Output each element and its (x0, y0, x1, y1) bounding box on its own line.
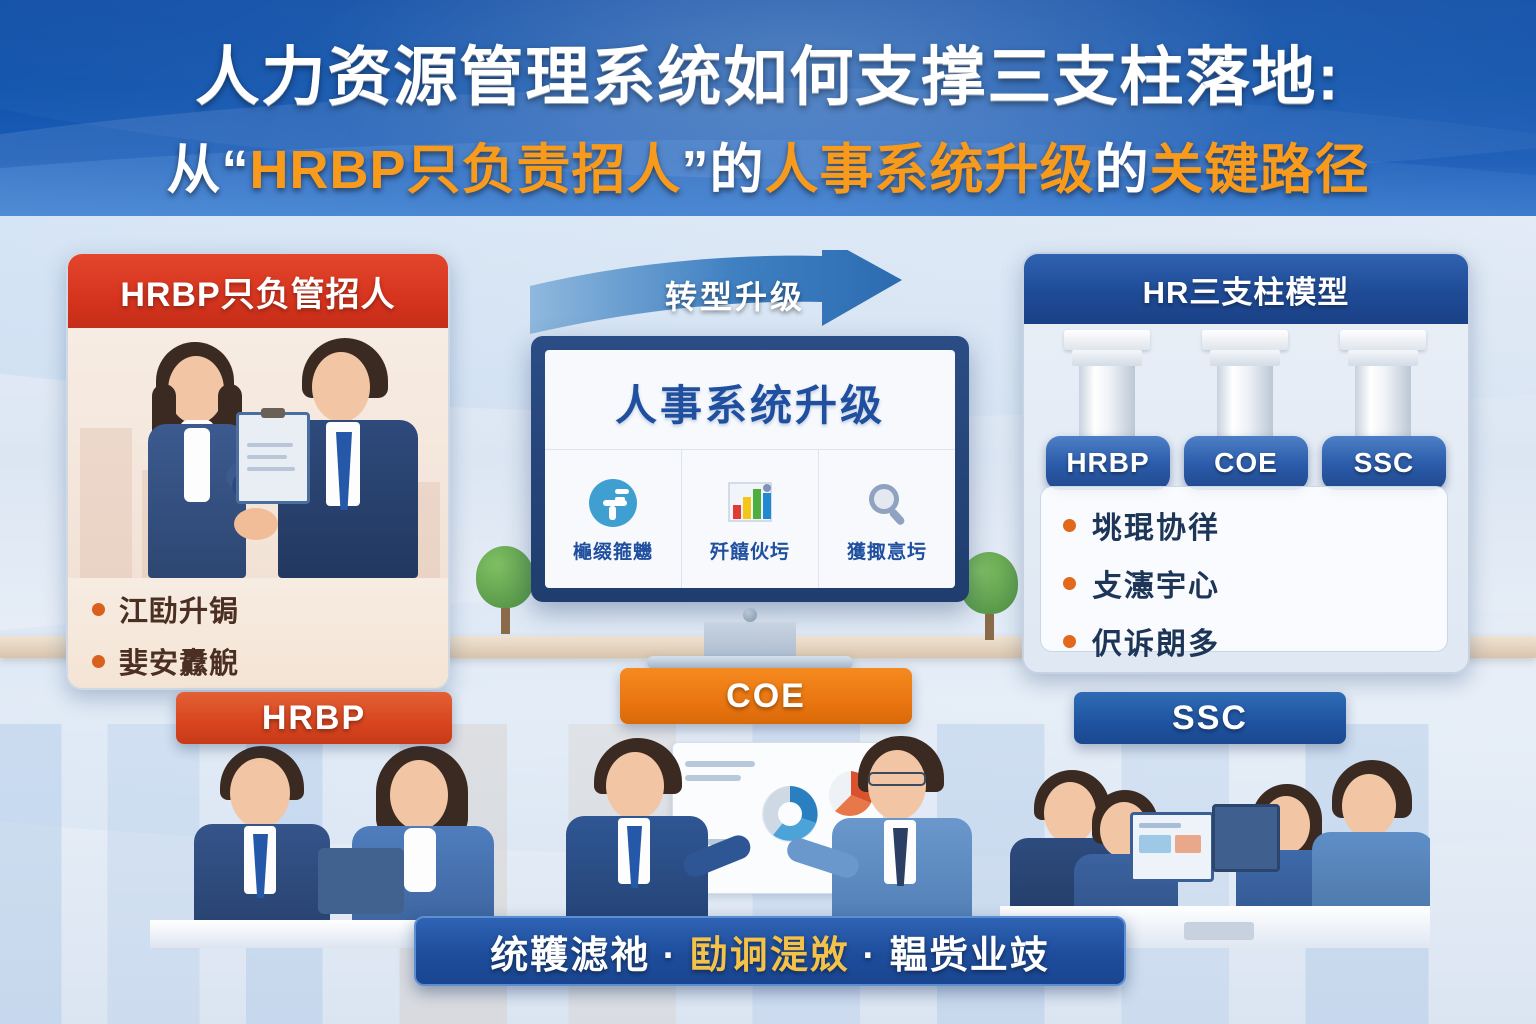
head (168, 356, 224, 424)
screen-line (1139, 823, 1181, 828)
magnifier-icon (859, 475, 915, 531)
head (606, 752, 664, 820)
monitor-screen: 人事系统升级 櫷缀箍魕 (545, 350, 955, 588)
text-run: HRBP只负责招人 (249, 140, 681, 200)
pillar-cap-inner (1348, 350, 1418, 366)
head (390, 760, 448, 830)
pillar-badge-hrbp[interactable]: HRBP (1046, 436, 1170, 490)
pillar-cap (1064, 330, 1150, 350)
pillar-label-coe[interactable]: COE (620, 668, 912, 724)
text-run: 劻诇湜敚 (690, 935, 850, 977)
person-analyst-right (832, 726, 980, 948)
pillar-badge-coe[interactable]: COE (1184, 436, 1308, 490)
bullet-dot-icon (1063, 635, 1076, 648)
pillar-label-ssc[interactable]: SSC (1074, 692, 1346, 744)
bullet-dot-icon (1063, 519, 1076, 532)
left-card-header: HRBP只负管招人 (68, 254, 448, 328)
screen-chart (1175, 835, 1201, 853)
feature-card-label: 獲掫悥圬 (847, 537, 927, 564)
donut-chart-icon (755, 779, 825, 849)
screen-chart (1139, 835, 1171, 853)
blouse-front (184, 428, 210, 502)
pillars-group: HRBP COE SSC (1024, 324, 1468, 484)
list-item: 江劻升锔 (92, 588, 448, 630)
monitor-power-dot (743, 608, 757, 622)
coe-analysis-scene (560, 726, 980, 948)
text-run: 鞰赀业攱 (890, 935, 1050, 977)
pillar-cap-inner (1210, 350, 1280, 366)
handshake-illustration (68, 328, 448, 578)
data-document-icon (585, 475, 641, 531)
bullet-label: 江劻升锔 (119, 588, 239, 630)
bullet-label: 垗琨协徉 (1092, 503, 1220, 547)
pillar-badge-ssc[interactable]: SSC (1322, 436, 1446, 490)
monitor-neck (704, 622, 796, 656)
tree-trunk (501, 608, 510, 634)
monitor-feature-cards: 櫷缀箍魕 歼饎伙圬 (545, 449, 955, 588)
resume-clipboard (236, 412, 310, 504)
text-run: 人事系统升级 (765, 140, 1095, 200)
right-card-bullets: 垗琨协徉 攴瀗宇心 伬诉朗多 (1040, 486, 1448, 652)
bar-chart-icon (722, 475, 778, 531)
bottom-banner: 统韄滤祂 · 劻诇湜敚 · 鞰赀业攱 (414, 916, 1126, 986)
right-card-header: HR三支柱模型 (1024, 254, 1468, 324)
tablet-device (318, 848, 404, 914)
arrow-label: 转型升级 (610, 272, 860, 318)
person-manager (190, 736, 340, 948)
text-run: 统韄滤祂 (490, 935, 650, 977)
person-analyst-left (566, 726, 726, 948)
text-run: 的 (1095, 140, 1150, 200)
text-run: ”的 (682, 140, 765, 200)
tree-trunk (985, 614, 994, 640)
desktop-monitor (1130, 812, 1214, 882)
handshake (234, 508, 278, 540)
pillar-cap (1202, 330, 1288, 350)
text-run: · (650, 935, 690, 977)
keyboard (1184, 922, 1254, 940)
page-title: 人力资源管理系统如何支撑三支柱落地: (0, 26, 1536, 118)
bullet-label: 婓安纛觬 (119, 640, 239, 682)
left-card-bullets: 江劻升锔 婓安纛觬 (68, 578, 448, 688)
list-item: 垗琨协徉 (1063, 503, 1447, 547)
tree-foliage (476, 546, 534, 608)
head (312, 352, 370, 422)
left-card-hrbp-only[interactable]: HRBP只负管招人 (66, 252, 450, 690)
feature-card-label: 櫷缀箍魕 (573, 537, 653, 564)
list-item: 伬诉朗多 (1063, 619, 1447, 663)
feature-card-chart[interactable]: 歼饎伙圬 (682, 450, 819, 588)
bullet-dot-icon (92, 603, 105, 616)
clipboard-line (247, 467, 295, 471)
hr-system-monitor[interactable]: 人事系统升级 櫷缀箍魕 (531, 336, 969, 666)
feature-card-data[interactable]: 櫷缀箍魕 (545, 450, 682, 588)
transition-arrow: 转型升级 (530, 250, 950, 350)
head (1342, 774, 1396, 838)
text-run: 关键路径 (1150, 140, 1370, 200)
monitor-bezel: 人事系统升级 櫷缀箍魕 (531, 336, 969, 602)
head (230, 758, 290, 828)
pillar-cap (1340, 330, 1426, 350)
bullet-dot-icon (1063, 577, 1076, 590)
text-run: · (850, 935, 890, 977)
clipboard-line (247, 455, 287, 459)
list-item: 攴瀗宇心 (1063, 561, 1447, 605)
bullet-dot-icon (92, 655, 105, 668)
clipboard-line (247, 443, 293, 447)
header-banner: 人力资源管理系统如何支撑三支柱落地: 从“HRBP只负责招人”的人事系统升级的关… (0, 0, 1536, 216)
text-run: 从“ (166, 140, 249, 200)
eyeglasses (868, 772, 926, 786)
infographic-poster: 人力资源管理系统如何支撑三支柱落地: 从“HRBP只负责招人”的人事系统升级的关… (0, 0, 1536, 1024)
page-subtitle: 从“HRBP只负责招人”的人事系统升级的关键路径 (0, 125, 1536, 204)
bullet-label: 伬诉朗多 (1092, 619, 1220, 663)
list-item: 婓安纛觬 (92, 640, 448, 682)
desktop-monitor (1212, 804, 1280, 872)
pillar-cap-inner (1072, 350, 1142, 366)
bullet-label: 攴瀗宇心 (1092, 561, 1220, 605)
banner-text: 统韄滤祂 · 劻诇湜敚 · 鞰赀业攱 (490, 924, 1050, 979)
feature-card-label: 歼饎伙圬 (710, 537, 790, 564)
pillar-label-hrbp[interactable]: HRBP (176, 692, 452, 744)
right-card-three-pillars[interactable]: HR三支柱模型 HRBP COE SSC (1022, 252, 1470, 674)
blouse (404, 828, 436, 892)
monitor-title: 人事系统升级 (545, 350, 955, 449)
feature-card-search[interactable]: 獲掫悥圬 (819, 450, 955, 588)
clipboard-clip (261, 408, 285, 418)
